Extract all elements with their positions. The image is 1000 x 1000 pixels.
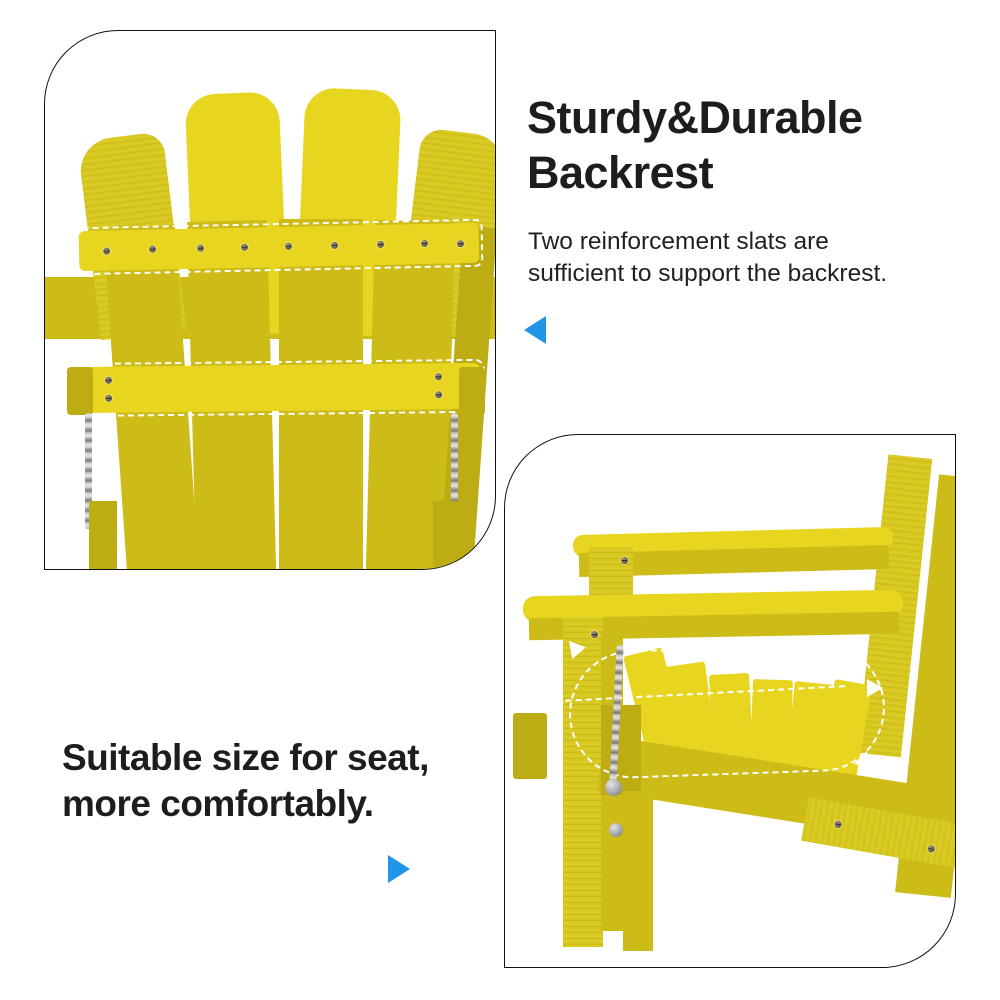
screw bbox=[285, 243, 292, 250]
dimension-arrow-left bbox=[533, 689, 549, 707]
seat-title-line-1: Suitable size for seat, bbox=[62, 735, 512, 781]
reinforcement-slat-upper bbox=[79, 223, 480, 271]
screw bbox=[377, 241, 384, 248]
screw bbox=[435, 391, 442, 398]
seat-photo bbox=[505, 435, 955, 967]
screw bbox=[621, 557, 628, 564]
left-bracket bbox=[67, 367, 93, 415]
right-bracket bbox=[459, 367, 485, 415]
screw bbox=[927, 845, 935, 853]
backrest-title-line-1: Sturdy&Durable bbox=[527, 90, 977, 145]
seat-title: Suitable size for seat, more comfortably… bbox=[62, 735, 512, 827]
leg-right bbox=[433, 501, 461, 570]
backrest-description-line-1: Two reinforcement slats are bbox=[528, 226, 988, 258]
chain-bolt bbox=[609, 823, 623, 837]
screw bbox=[435, 373, 442, 380]
backrest-title: Sturdy&Durable Backrest bbox=[527, 90, 977, 200]
triangle-right-icon bbox=[388, 855, 410, 883]
screw bbox=[105, 377, 112, 384]
screw bbox=[105, 395, 112, 402]
leg-left bbox=[89, 501, 117, 570]
screw bbox=[331, 242, 338, 249]
backrest-photo-frame bbox=[44, 30, 496, 570]
backrest-photo bbox=[45, 31, 495, 569]
chain-ring bbox=[605, 779, 622, 796]
dimension-arrow-right bbox=[867, 679, 883, 697]
screw bbox=[421, 240, 428, 247]
backrest-title-line-2: Backrest bbox=[527, 145, 977, 200]
screw bbox=[457, 240, 464, 247]
backrest-description: Two reinforcement slats are sufficient t… bbox=[528, 226, 988, 290]
backrest-description-line-2: sufficient to support the backrest. bbox=[528, 258, 988, 290]
infographic-page: Sturdy&Durable Backrest Two reinforcemen… bbox=[0, 0, 1000, 1000]
screw bbox=[834, 820, 842, 828]
triangle-left-icon bbox=[524, 316, 546, 344]
screw bbox=[591, 631, 598, 638]
left-end-block bbox=[513, 713, 547, 779]
seat-title-line-2: more comfortably. bbox=[62, 781, 512, 827]
screw bbox=[241, 244, 248, 251]
rear-leg bbox=[623, 791, 653, 951]
reinforcement-slat-lower bbox=[69, 363, 481, 413]
screw bbox=[197, 245, 204, 252]
seat-photo-frame bbox=[504, 434, 956, 968]
screw bbox=[149, 246, 156, 253]
screw bbox=[103, 248, 110, 255]
